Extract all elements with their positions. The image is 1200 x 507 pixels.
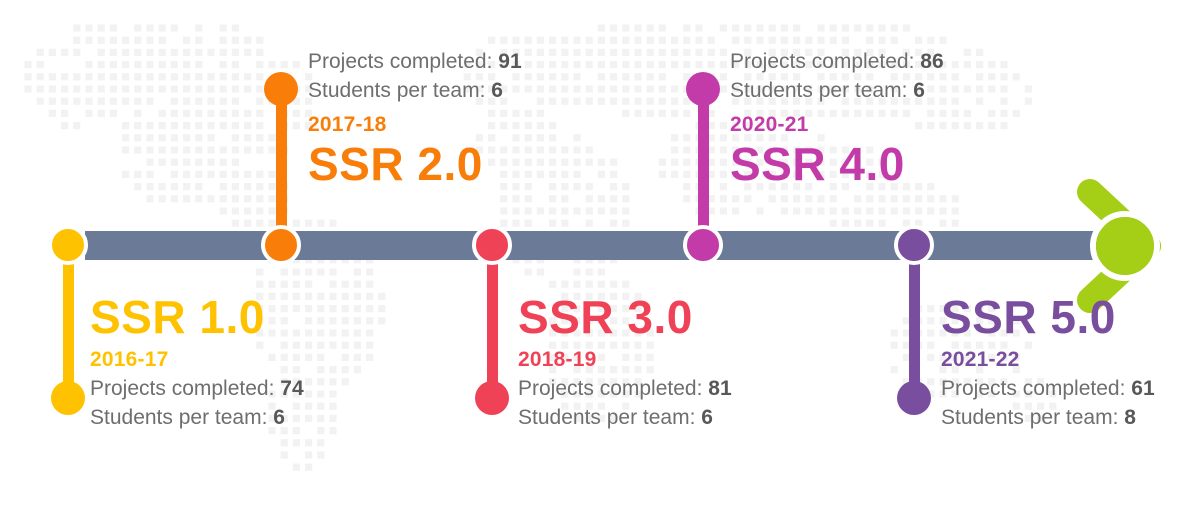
milestone-stat-line: Students per team: 6: [730, 77, 944, 106]
stat-value: 74: [280, 377, 303, 400]
milestone-stat-line: Projects completed: 91: [308, 48, 522, 77]
milestone-stats: Projects completed: 91Students per team:…: [308, 48, 522, 106]
stat-value: 6: [273, 406, 285, 429]
timeline-bar: [85, 231, 1110, 260]
milestone-node-dot[interactable]: [48, 225, 88, 265]
milestone-stats: Projects completed: 81Students per team:…: [518, 375, 732, 433]
milestone-connector-stem: [698, 89, 709, 237]
milestone-text-block: SSR 5.02021-22Projects completed: 61Stud…: [941, 293, 1155, 433]
milestone-stat-line: Projects completed: 86: [730, 48, 944, 77]
milestone-stat-line: Students per team: 6: [308, 77, 522, 106]
milestone-title: SSR 1.0: [90, 293, 304, 343]
milestone-connector-stem: [276, 89, 287, 237]
stat-label: Projects completed:: [308, 50, 492, 73]
milestone-stat-line: Students per team: 8: [941, 404, 1155, 433]
milestone-stat-line: Projects completed: 61: [941, 375, 1155, 404]
stat-label: Students per team:: [941, 406, 1118, 429]
stat-value: 61: [1131, 377, 1154, 400]
milestone-text-block: SSR 2.02017-18Projects completed: 91Stud…: [308, 48, 522, 190]
stat-value: 86: [920, 50, 943, 73]
milestone-connector-stem: [487, 253, 498, 398]
stat-value: 6: [701, 406, 713, 429]
milestone-connector-stem: [63, 253, 74, 398]
milestone-stat-line: Projects completed: 74: [90, 375, 304, 404]
milestone-stat-line: Students per team: 6: [90, 404, 304, 433]
milestone-node-dot[interactable]: [472, 225, 512, 265]
stat-label: Projects completed:: [518, 377, 702, 400]
stat-label: Students per team:: [730, 79, 907, 102]
milestone-title: SSR 3.0: [518, 293, 732, 343]
milestone-title: SSR 4.0: [730, 140, 944, 190]
milestone-title: SSR 5.0: [941, 293, 1155, 343]
stat-label: Projects completed:: [730, 50, 914, 73]
stat-label: Students per team:: [308, 79, 485, 102]
milestone-title: SSR 2.0: [308, 140, 522, 190]
milestone-text-block: SSR 4.02020-21Projects completed: 86Stud…: [730, 48, 944, 190]
milestone-stats: Projects completed: 86Students per team:…: [730, 48, 944, 106]
milestone-year: 2021-22: [941, 347, 1155, 373]
milestone-node-dot[interactable]: [894, 225, 934, 265]
milestone-node-dot[interactable]: [261, 225, 301, 265]
stat-value: 8: [1124, 406, 1136, 429]
stat-value: 6: [913, 79, 925, 102]
milestone-stat-line: Students per team: 6: [518, 404, 732, 433]
stat-label: Students per team:: [90, 406, 267, 429]
milestone-text-block: SSR 1.02016-17Projects completed: 74Stud…: [90, 293, 304, 433]
milestone-year: 2016-17: [90, 347, 304, 373]
milestone-stats: Projects completed: 74Students per team:…: [90, 375, 304, 433]
stat-label: Projects completed:: [90, 377, 274, 400]
milestone-stats: Projects completed: 61Students per team:…: [941, 375, 1155, 433]
milestone-stat-line: Projects completed: 81: [518, 375, 732, 404]
timeline-infographic: SSR 1.02016-17Projects completed: 74Stud…: [0, 0, 1200, 507]
milestone-year: 2017-18: [308, 112, 522, 138]
milestone-text-block: SSR 3.02018-19Projects completed: 81Stud…: [518, 293, 732, 433]
stat-value: 91: [498, 50, 521, 73]
stat-label: Students per team:: [518, 406, 695, 429]
milestone-connector-stem: [909, 253, 920, 398]
stat-value: 81: [708, 377, 731, 400]
milestone-year: 2020-21: [730, 112, 944, 138]
milestone-node-dot[interactable]: [683, 225, 723, 265]
stat-value: 6: [491, 79, 503, 102]
milestone-year: 2018-19: [518, 347, 732, 373]
stat-label: Projects completed:: [941, 377, 1125, 400]
